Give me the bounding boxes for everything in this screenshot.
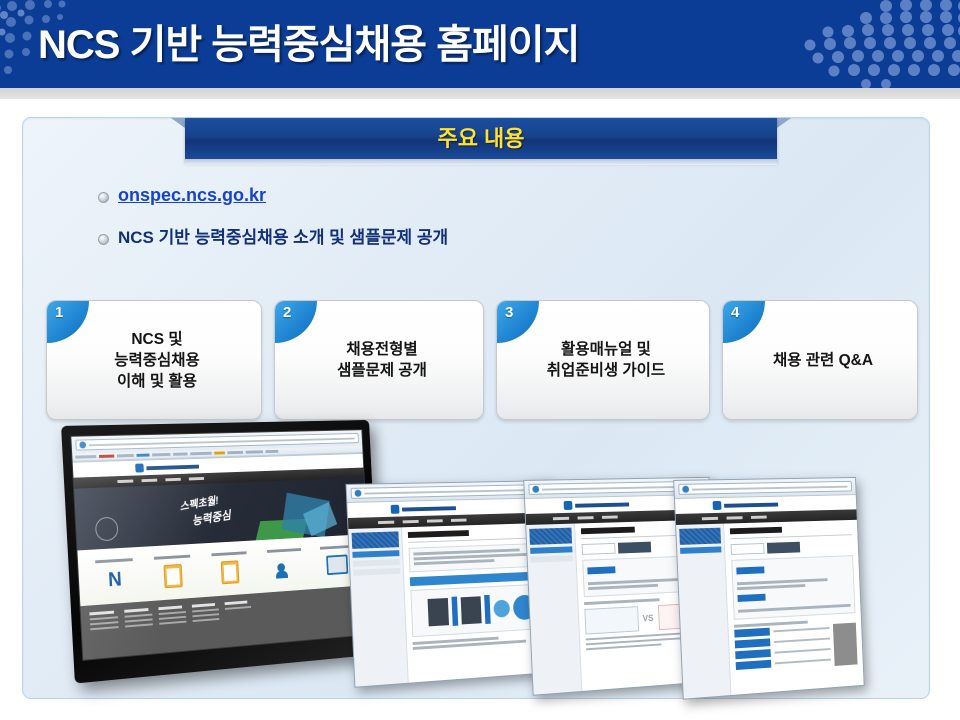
nav-item xyxy=(602,516,618,519)
page-sidebar[interactable] xyxy=(676,524,731,699)
address-bar[interactable] xyxy=(678,481,852,495)
page-main xyxy=(724,520,864,695)
nav-item xyxy=(578,516,594,519)
nav-item xyxy=(727,516,743,519)
icon-caption xyxy=(267,548,301,553)
page-heading xyxy=(730,527,782,534)
page-body xyxy=(676,520,864,699)
url-text xyxy=(89,437,355,446)
url-text xyxy=(692,485,848,490)
sidebar-item[interactable] xyxy=(531,555,573,563)
url-text xyxy=(364,488,544,494)
footer-column xyxy=(158,605,187,646)
comparison-left xyxy=(584,606,638,634)
page-sidebar[interactable] xyxy=(526,524,582,695)
nav-item xyxy=(403,520,419,523)
feature-card-2[interactable]: 2 채용전형별 샘플문제 공개 xyxy=(274,300,484,420)
card-label: 채용 관련 Q&A xyxy=(723,301,917,419)
feature-card-3[interactable]: 3 활용매뉴얼 및 취업준비생 가이드 xyxy=(496,300,710,420)
vs-label: VS xyxy=(642,613,653,623)
nav-item xyxy=(118,480,134,483)
notice-box xyxy=(731,555,855,620)
icon-tile[interactable]: N xyxy=(88,557,141,595)
desktop-monitor-mockup: 스펙초월! 능력중심 N xyxy=(61,420,380,684)
nav-item xyxy=(427,519,443,522)
nav-item xyxy=(702,517,718,520)
list-item: NCS 기반 능력중심채용 소개 및 샘플문제 공개 xyxy=(98,227,818,249)
icon-caption xyxy=(154,554,190,559)
page-sidebar[interactable] xyxy=(348,527,409,686)
tab-select[interactable] xyxy=(731,543,765,555)
feature-card-1[interactable]: 1 NCS 및 능력중심채용 이해 및 활용 xyxy=(46,300,262,420)
nav-item xyxy=(751,516,767,519)
tab-active[interactable] xyxy=(767,542,800,554)
sidebar-item-active[interactable] xyxy=(352,550,399,558)
page-heading xyxy=(581,527,635,535)
icon-tile[interactable] xyxy=(205,550,254,586)
ribbon-title-text: 주요 내용 xyxy=(185,118,777,159)
site-logo-text xyxy=(146,464,199,470)
homepage-link[interactable]: onspec.ncs.go.kr xyxy=(118,185,266,206)
subsection-heading xyxy=(584,598,660,604)
nav-item xyxy=(166,478,182,481)
badge xyxy=(587,566,615,574)
sidebar-header xyxy=(529,528,572,545)
ncs-search-icon: N xyxy=(89,564,141,595)
icon-caption xyxy=(95,558,133,563)
page-header: NCS 기반 능력중심채용 홈페이지 xyxy=(0,0,960,88)
nav-item xyxy=(142,479,158,482)
browser-back-icon[interactable] xyxy=(354,490,361,497)
footer-column xyxy=(225,600,253,640)
card-label: NCS 및 능력중심채용 이해 및 활용 xyxy=(47,301,261,419)
hero-decor-circle xyxy=(95,517,119,542)
icon-tile[interactable] xyxy=(148,554,199,591)
icon-caption xyxy=(211,551,246,556)
slide-root: NCS 기반 능력중심채용 홈페이지 주요 내용 onspec.n xyxy=(0,0,960,720)
tab-strip[interactable] xyxy=(731,540,853,555)
nav-item xyxy=(189,477,204,480)
site-logo-text xyxy=(402,506,456,511)
icon-tile[interactable] xyxy=(261,547,308,583)
sidebar-header xyxy=(679,528,721,545)
sidebar-item[interactable] xyxy=(353,559,400,567)
address-bar[interactable] xyxy=(351,484,549,499)
ribbon-tail-right xyxy=(777,118,791,128)
badge xyxy=(736,566,764,574)
bullet-list: onspec.ncs.go.kr NCS 기반 능력중심채용 소개 및 샘플문제… xyxy=(98,185,818,270)
nav-item xyxy=(553,517,569,520)
footer-column xyxy=(124,608,154,649)
header-divider xyxy=(0,88,960,99)
card-label: 채용전형별 샘플문제 공개 xyxy=(275,301,483,419)
people-icon xyxy=(261,554,308,583)
ncs-logo-icon xyxy=(390,505,399,514)
card-label: 활용매뉴얼 및 취업준비생 가이드 xyxy=(497,301,709,419)
browser-back-icon[interactable] xyxy=(682,486,689,493)
header-dot-pattern-right xyxy=(766,0,960,88)
ncs-logo-icon xyxy=(564,501,573,510)
site-logo-text xyxy=(575,502,629,507)
ribbon-body: 주요 내용 xyxy=(185,118,777,162)
nav-item xyxy=(451,519,467,522)
screenshot-showcase: 스펙초월! 능력중심 N xyxy=(0,418,960,720)
divider xyxy=(730,534,852,539)
badge xyxy=(738,594,766,602)
site-logo-text xyxy=(724,502,778,507)
browser-back-icon[interactable] xyxy=(532,486,539,493)
tab-active[interactable] xyxy=(618,542,651,554)
feature-card-4[interactable]: 4 채용 관련 Q&A xyxy=(722,300,918,420)
clipboard-icon xyxy=(148,561,198,591)
page-title: NCS 기반 능력중심채용 홈페이지 xyxy=(38,12,579,70)
section-ribbon: 주요 내용 xyxy=(185,118,777,166)
bullet-text: NCS 기반 능력중심채용 소개 및 샘플문제 공개 xyxy=(118,227,448,249)
browser-back-icon[interactable] xyxy=(79,441,86,448)
monitor-screen: 스펙초월! 능력중심 N xyxy=(70,429,372,661)
bullet-dot-icon xyxy=(98,192,109,203)
ribbon-tail-left xyxy=(171,118,185,128)
browser-window-competency-test xyxy=(673,477,864,700)
feature-card-group: 1 NCS 및 능력중심채용 이해 및 활용 2 채용전형별 샘플문제 공개 3… xyxy=(46,300,916,418)
sidebar-header xyxy=(352,531,400,548)
ncs-logo-icon xyxy=(135,463,144,472)
footer-column xyxy=(89,610,119,652)
footer-column xyxy=(192,603,221,643)
checklist-icon xyxy=(206,557,255,587)
sidebar-item[interactable] xyxy=(353,568,400,576)
ncs-logo-icon xyxy=(713,501,722,510)
list-item: onspec.ncs.go.kr xyxy=(98,185,818,206)
bullet-dot-icon xyxy=(98,234,109,245)
nav-item xyxy=(378,521,394,524)
side-panel xyxy=(833,623,858,666)
ribbon-shadow xyxy=(185,159,777,165)
page-heading xyxy=(408,530,469,538)
sidebar-item-active[interactable] xyxy=(530,546,572,553)
tab-select[interactable] xyxy=(582,543,616,555)
sidebar-item-active[interactable] xyxy=(680,546,722,553)
